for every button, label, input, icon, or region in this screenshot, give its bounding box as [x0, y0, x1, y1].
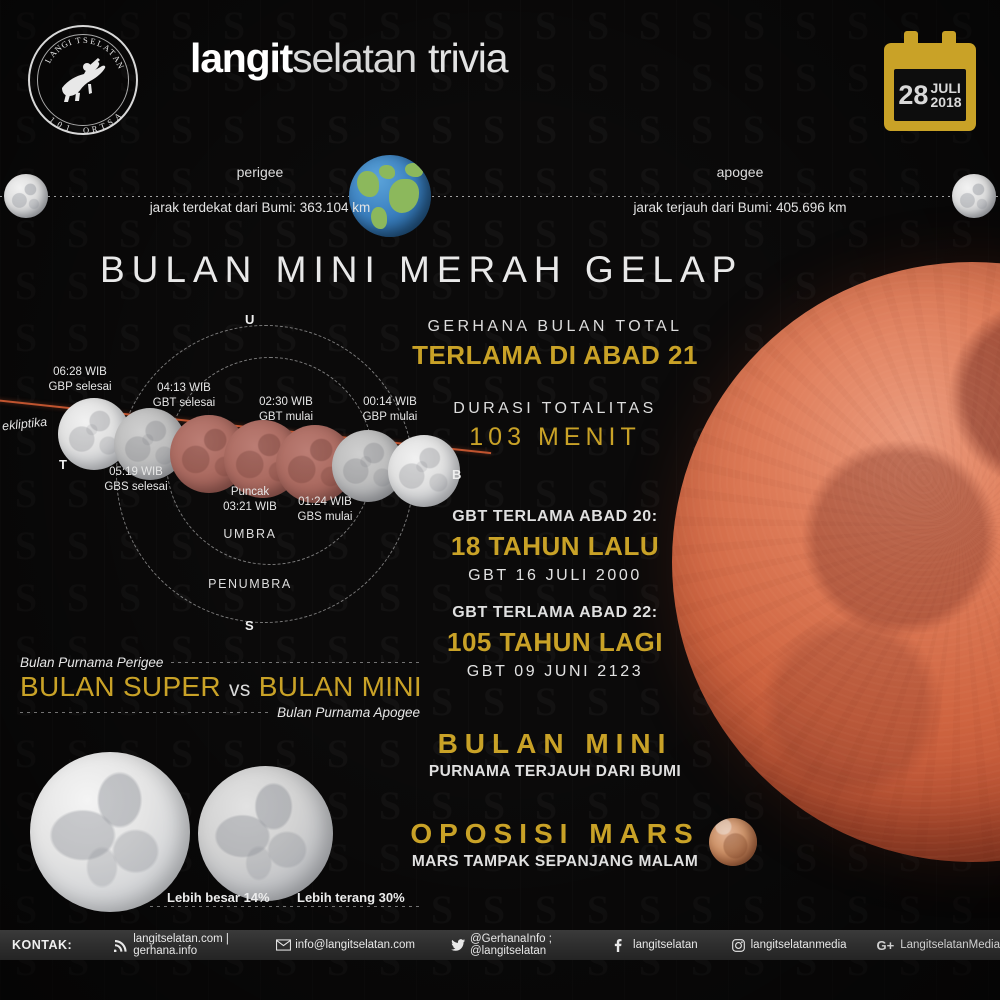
langitselatan-logo-badge: LANGITSELATAN ASTRO 101	[28, 25, 138, 135]
phase-time: 05:19 WIB	[109, 466, 163, 478]
contact-footer: KONTAK: langitselatan.com | gerhana.info…	[0, 930, 1000, 960]
phase-event: GBP selesai	[48, 381, 111, 393]
wordmark-selatan: selatan	[292, 35, 416, 81]
footer-item-facebook[interactable]: langitselatan	[614, 939, 698, 952]
calendar-year: 2018	[930, 95, 961, 109]
headline-gold: TERLAMA DI ABAD 21	[405, 340, 705, 371]
duration-block: DURASI TOTALITAS 103 MENIT	[405, 400, 705, 452]
mars-title: OPOSISI MARS	[405, 818, 705, 850]
phase-label-gbs-selesai: 05:19 WIB GBS selesai	[76, 465, 196, 495]
calendar-month: JULI	[930, 81, 961, 95]
phase-time: 02:30 WIB	[259, 396, 313, 408]
century-20-value: 18 TAHUN LALU	[405, 531, 705, 562]
supermoon-circle	[30, 752, 190, 912]
footer-instagram-text: langitselatanmedia	[751, 939, 847, 951]
phase-time: 06:28 WIB	[53, 366, 107, 378]
twitter-icon	[451, 939, 464, 952]
duration-label: DURASI TOTALITAS	[405, 400, 705, 418]
compass-east: B	[452, 467, 461, 482]
orbit-dotted-line	[0, 196, 1000, 197]
caption-rule-bottom	[20, 712, 269, 713]
footer-item-twitter[interactable]: @GerhanaInfo ; @langitselatan	[451, 933, 574, 957]
minimoon-circle	[198, 766, 333, 901]
compare-title: BULAN SUPER vs BULAN MINI	[20, 671, 420, 703]
page-title: BULAN MINI MERAH GELAP	[100, 249, 700, 291]
footer-googleplus-text: LangitselatanMedia	[900, 939, 1000, 951]
compass-north: U	[245, 312, 254, 327]
perigee-moon-icon	[4, 174, 48, 218]
minimoon-subtitle: PURNAMA TERJAUH DARI BUMI	[405, 763, 705, 781]
umbra-label: UMBRA	[190, 527, 310, 541]
supermoon-vs-minimoon-section: Bulan Purnama Perigee BULAN SUPER vs BUL…	[20, 655, 420, 720]
phase-event: GBT mulai	[259, 411, 313, 423]
apogee-caption: Bulan Purnama Apogee	[277, 705, 420, 720]
compare-size-label: Lebih besar 14%	[167, 890, 270, 905]
calendar-day: 28	[898, 82, 928, 109]
caption-rule-top	[171, 662, 420, 663]
phase-event: GBS selesai	[104, 481, 167, 493]
century-20-date: GBT 16 JULI 2000	[405, 567, 705, 585]
instagram-icon	[732, 939, 745, 952]
eclipse-headline-block: GERHANA BULAN TOTAL TERLAMA DI ABAD 21	[405, 318, 705, 371]
footer-email-text: info@langitselatan.com	[295, 939, 415, 951]
century-22-block: GBT TERLAMA ABAD 22: 105 TAHUN LAGI GBT …	[405, 604, 705, 681]
compare-title-vs: vs	[229, 678, 251, 701]
wordmark-trivia: trivia	[428, 35, 507, 81]
phase-label-gbt-mulai: 02:30 WIB GBT mulai	[226, 395, 346, 425]
wordmark: langitselatantrivia	[190, 38, 507, 79]
century-20-block: GBT TERLAMA ABAD 20: 18 TAHUN LALU GBT 1…	[405, 508, 705, 585]
googleplus-icon: G+	[877, 938, 895, 953]
phase-label-gbp-selesai: 06:28 WIB GBP selesai	[20, 365, 140, 395]
footer-item-googleplus[interactable]: G+ LangitselatanMedia	[877, 938, 1000, 953]
calendar-body: 28 JULI 2018	[884, 43, 976, 131]
perigee-caption: Bulan Purnama Perigee	[20, 655, 163, 670]
perigee-label: perigee	[120, 164, 400, 180]
phase-time: 04:13 WIB	[157, 382, 211, 394]
compass-south: S	[245, 618, 254, 633]
phase-event: GBT selesai	[153, 397, 215, 409]
peak-label: Puncak 03:21 WIB	[190, 485, 310, 515]
headline-small: GERHANA BULAN TOTAL	[405, 318, 705, 336]
apogee-moon-icon	[952, 174, 996, 218]
compare-title-right: BULAN MINI	[259, 671, 422, 702]
mars-planet-icon	[709, 818, 757, 866]
ecliptic-label: ekliptika	[1, 415, 47, 434]
wordmark-langit: langit	[190, 35, 292, 81]
century-22-date: GBT 09 JUNI 2123	[405, 663, 705, 681]
peak-title: Puncak	[231, 486, 269, 498]
penumbra-label: PENUMBRA	[180, 577, 320, 591]
apogee-label: apogee	[600, 164, 880, 180]
calendar-screen: 28 JULI 2018	[894, 69, 966, 121]
footer-item-website[interactable]: langitselatan.com | gerhana.info	[114, 933, 238, 957]
century-22-value: 105 TAHUN LAGI	[405, 627, 705, 658]
minimoon-title: BULAN MINI	[405, 728, 705, 760]
apogee-distance-text: jarak terjauh dari Bumi: 405.696 km	[560, 200, 920, 215]
compare-rule	[150, 906, 420, 907]
horse-rider-icon	[54, 54, 112, 106]
footer-twitter-text: @GerhanaInfo ; @langitselatan	[470, 933, 574, 957]
compare-brightness-label: Lebih terang 30%	[297, 890, 405, 905]
duration-value: 103 MENIT	[405, 423, 705, 452]
peak-time: 03:21 WIB	[223, 501, 277, 513]
footer-website-text: langitselatan.com | gerhana.info	[133, 933, 238, 957]
date-calendar-badge: 28 JULI 2018	[884, 31, 976, 131]
footer-facebook-text: langitselatan	[633, 939, 698, 951]
mars-subtitle: MARS TAMPAK SEPANJANG MALAM	[405, 853, 705, 871]
kontak-label: KONTAK:	[12, 938, 72, 952]
compass-west: T	[59, 457, 67, 472]
compare-title-left: BULAN SUPER	[20, 671, 221, 702]
century-22-label: GBT TERLAMA ABAD 22:	[405, 604, 705, 622]
minimoon-block: BULAN MINI PURNAMA TERJAUH DARI BUMI	[405, 728, 705, 781]
footer-item-email[interactable]: info@langitselatan.com	[276, 939, 415, 952]
century-20-label: GBT TERLAMA ABAD 20:	[405, 508, 705, 526]
footer-item-instagram[interactable]: langitselatanmedia	[732, 939, 847, 952]
infographic-root: SSSSSSSSSSSSSSSSSSSSSSSSSSSSSSSSSSSSSSSS…	[0, 0, 1000, 1000]
perigee-distance-text: jarak terdekat dari Bumi: 363.104 km	[80, 200, 440, 215]
mars-opposition-block: OPOSISI MARS MARS TAMPAK SEPANJANG MALAM	[405, 818, 705, 871]
rss-icon	[114, 939, 127, 952]
envelope-icon	[276, 939, 289, 952]
facebook-icon	[614, 939, 627, 952]
